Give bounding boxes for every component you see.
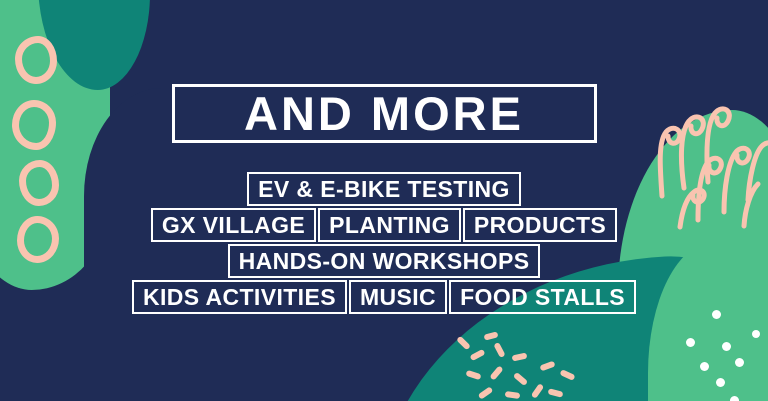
tag-kids-activities[interactable]: KIDS ACTIVITIES [132,280,347,314]
tag-products[interactable]: PRODUCTS [463,208,617,242]
tag-rows: EV & E-BIKE TESTING GX VILLAGE PLANTING … [132,172,636,314]
tag-row: HANDS-ON WORKSHOPS [228,244,541,278]
page-title: AND MORE [244,90,524,137]
tag-hands-on-workshops[interactable]: HANDS-ON WORKSHOPS [228,244,541,278]
tag-gx-village[interactable]: GX VILLAGE [151,208,316,242]
poster-content: AND MORE EV & E-BIKE TESTING GX VILLAGE … [0,0,768,401]
poster-canvas: AND MORE EV & E-BIKE TESTING GX VILLAGE … [0,0,768,401]
tag-planting[interactable]: PLANTING [318,208,461,242]
tag-row: EV & E-BIKE TESTING [247,172,521,206]
headline-box: AND MORE [172,84,597,143]
tag-ev-e-bike-testing[interactable]: EV & E-BIKE TESTING [247,172,521,206]
tag-row: KIDS ACTIVITIES MUSIC FOOD STALLS [132,280,636,314]
tag-food-stalls[interactable]: FOOD STALLS [449,280,636,314]
tag-row: GX VILLAGE PLANTING PRODUCTS [151,208,617,242]
tag-music[interactable]: MUSIC [349,280,447,314]
